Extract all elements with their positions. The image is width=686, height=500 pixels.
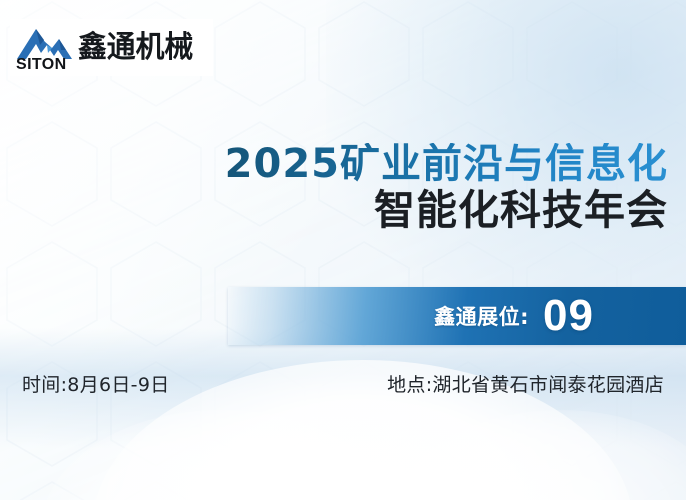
cloud-left: [41, 410, 401, 500]
company-logo: SITON 鑫通机械: [10, 19, 213, 76]
booth-number-banner: 鑫通展位: 09: [228, 287, 686, 345]
event-poster: SITON 鑫通机械 2025矿业前沿与信息化 智能化科技年会 鑫通展位: 09…: [0, 0, 686, 500]
booth-number: 09: [543, 294, 594, 338]
event-date: 时间:8月6日-9日: [22, 370, 170, 397]
booth-label: 鑫通展位:: [434, 301, 529, 331]
siton-mountain-icon: SITON: [14, 23, 76, 73]
headline-line-1: 2025矿业前沿与信息化: [0, 143, 668, 186]
poster-headline: 2025矿业前沿与信息化 智能化科技年会: [0, 143, 668, 235]
headline-line-2: 智能化科技年会: [0, 186, 668, 234]
logo-chinese-name: 鑫通机械: [78, 33, 193, 63]
logo-latin-name: SITON: [16, 56, 67, 74]
event-venue: 地点:湖北省黄石市闻泰花园酒店: [387, 370, 664, 397]
event-info-row: 时间:8月6日-9日 地点:湖北省黄石市闻泰花园酒店: [22, 370, 664, 397]
cloud-right: [396, 410, 686, 500]
